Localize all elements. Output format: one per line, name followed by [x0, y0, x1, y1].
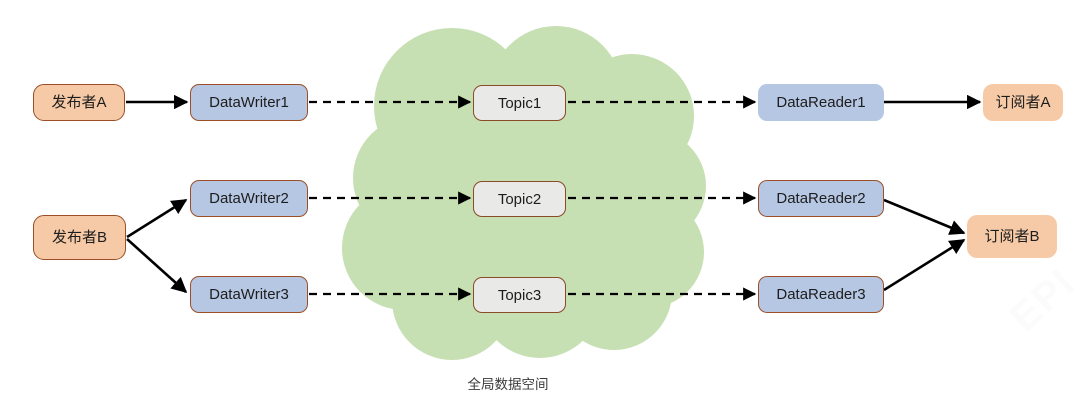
node-subscriber-a-label: 订阅者A — [995, 95, 1050, 110]
diagram-caption: 全局数据空间 — [436, 373, 580, 393]
node-publisher-b-label: 发布者B — [52, 230, 107, 245]
node-datawriter1[interactable]: DataWriter1 — [190, 84, 308, 121]
node-datareader2-label: DataReader2 — [776, 191, 865, 206]
node-datawriter3[interactable]: DataWriter3 — [190, 276, 308, 313]
node-topic2[interactable]: Topic2 — [473, 181, 566, 217]
node-datareader1-label: DataReader1 — [776, 95, 865, 110]
node-topic1[interactable]: Topic1 — [473, 85, 566, 121]
node-topic1-label: Topic1 — [498, 96, 541, 111]
node-subscriber-a[interactable]: 订阅者A — [983, 84, 1063, 121]
node-topic3[interactable]: Topic3 — [473, 277, 566, 313]
node-subscriber-b[interactable]: 订阅者B — [967, 215, 1057, 258]
node-datareader2[interactable]: DataReader2 — [758, 180, 884, 217]
node-datawriter2[interactable]: DataWriter2 — [190, 180, 308, 217]
node-publisher-b[interactable]: 发布者B — [33, 215, 126, 260]
node-datareader1[interactable]: DataReader1 — [758, 84, 884, 121]
node-datareader3-label: DataReader3 — [776, 287, 865, 302]
node-publisher-a[interactable]: 发布者A — [33, 84, 125, 121]
node-publisher-a-label: 发布者A — [51, 95, 106, 110]
diagram-canvas: 发布者A 发布者B DataWriter1 DataWriter2 DataWr… — [0, 0, 1080, 401]
node-topic2-label: Topic2 — [498, 192, 541, 207]
node-datawriter1-label: DataWriter1 — [209, 95, 289, 110]
node-subscriber-b-label: 订阅者B — [984, 229, 1039, 244]
node-datawriter2-label: DataWriter2 — [209, 191, 289, 206]
node-datawriter3-label: DataWriter3 — [209, 287, 289, 302]
node-datareader3[interactable]: DataReader3 — [758, 276, 884, 313]
node-topic3-label: Topic3 — [498, 288, 541, 303]
